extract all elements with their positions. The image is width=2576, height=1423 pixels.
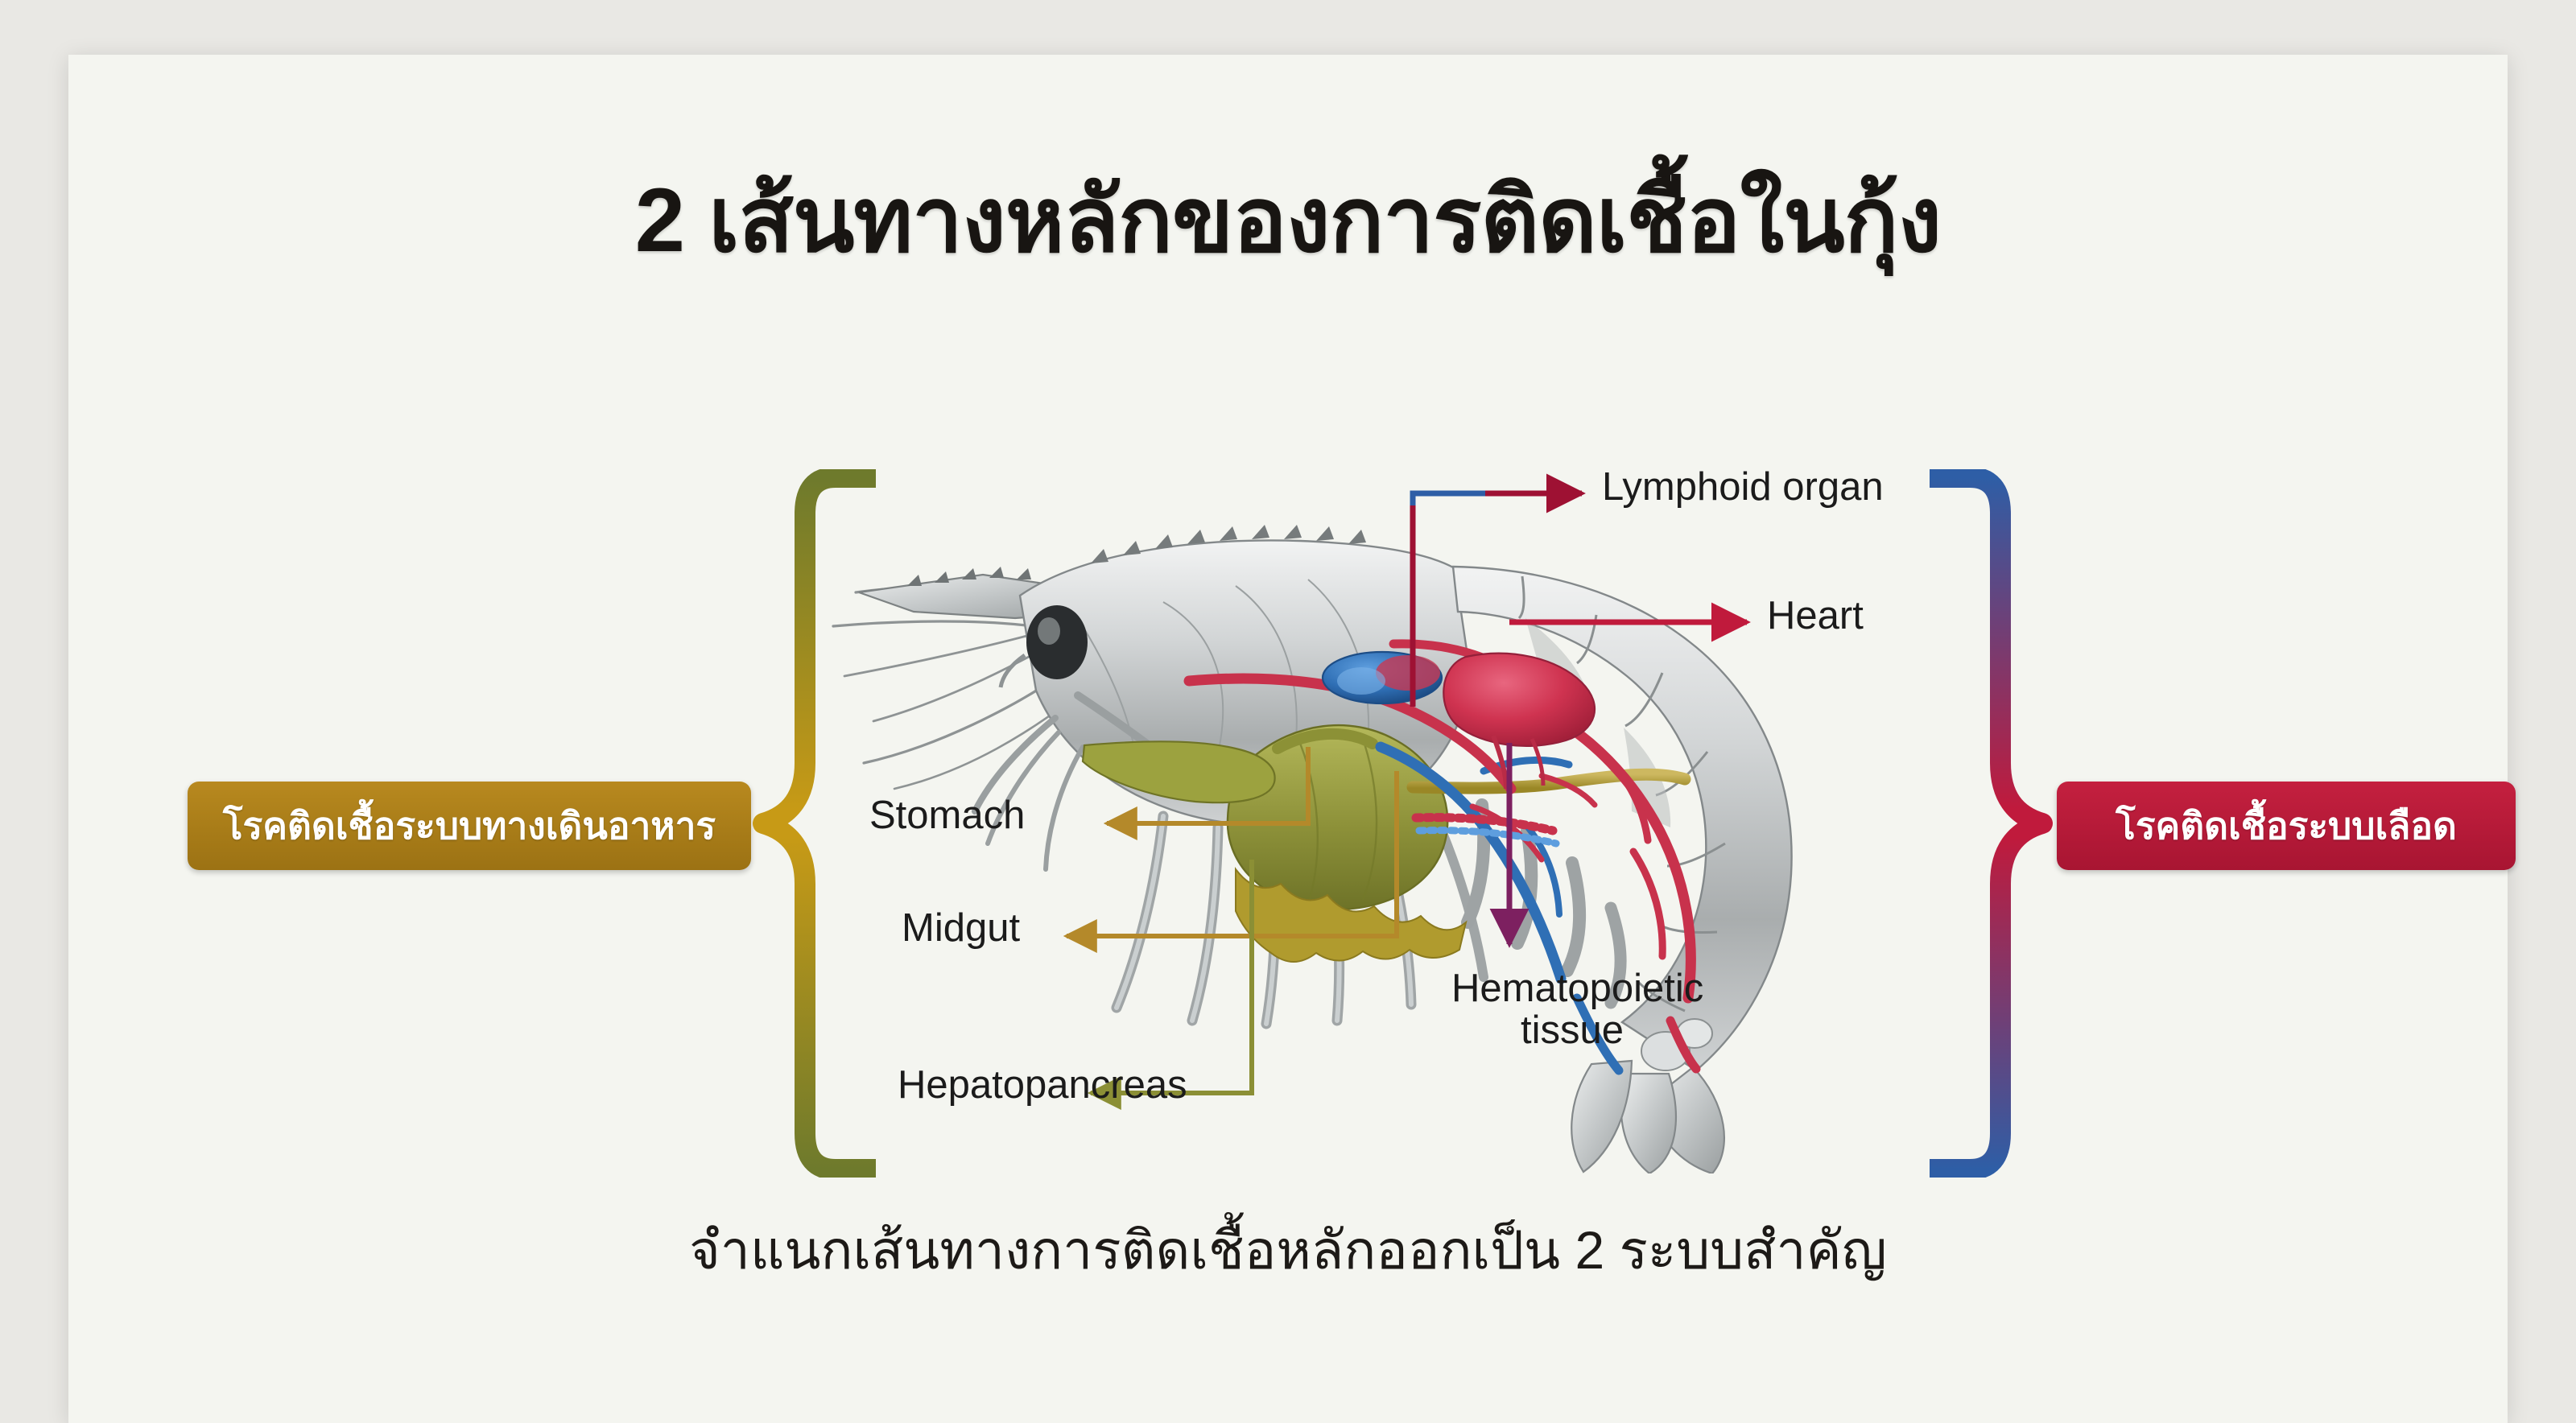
badge-blood-label: โรคติดเชื้อระบบเลือด [2116, 797, 2457, 856]
lymphoid-organ [1323, 652, 1442, 703]
label-hematopoietic-line1: Hematopoietic [1451, 968, 1709, 1010]
right-brace [1920, 469, 2057, 1178]
label-lymphoid-organ: Lymphoid organ [1602, 467, 1884, 509]
badge-gastrointestinal-infection[interactable]: โรคติดเชื้อระบบทางเดินอาหาร [188, 782, 751, 870]
label-stomach: Stomach [869, 795, 1025, 837]
slide-card: 2 เส้นทางหลักของการติดเชื้อในกุ้ง โรคติด… [68, 55, 2508, 1423]
badge-blood-infection[interactable]: โรคติดเชื้อระบบเลือด [2057, 782, 2516, 870]
page-title: 2 เส้นทางหลักของการติดเชื้อในกุ้ง [68, 175, 2508, 266]
label-hematopoietic-tissue: Hematopoietic tissue [1451, 968, 1709, 1052]
slide-caption: จำแนกเส้นทางการติดเชื้อหลักออกเป็น 2 ระบ… [68, 1223, 2508, 1277]
label-heart: Heart [1767, 596, 1864, 637]
label-hepatopancreas: Hepatopancreas [898, 1065, 1187, 1107]
badge-gastrointestinal-label: โรคติดเชื้อระบบทางเดินอาหาร [223, 797, 716, 856]
label-hematopoietic-line2: tissue [1451, 1010, 1693, 1052]
label-midgut: Midgut [902, 908, 1020, 950]
heart-organ [1443, 654, 1595, 789]
